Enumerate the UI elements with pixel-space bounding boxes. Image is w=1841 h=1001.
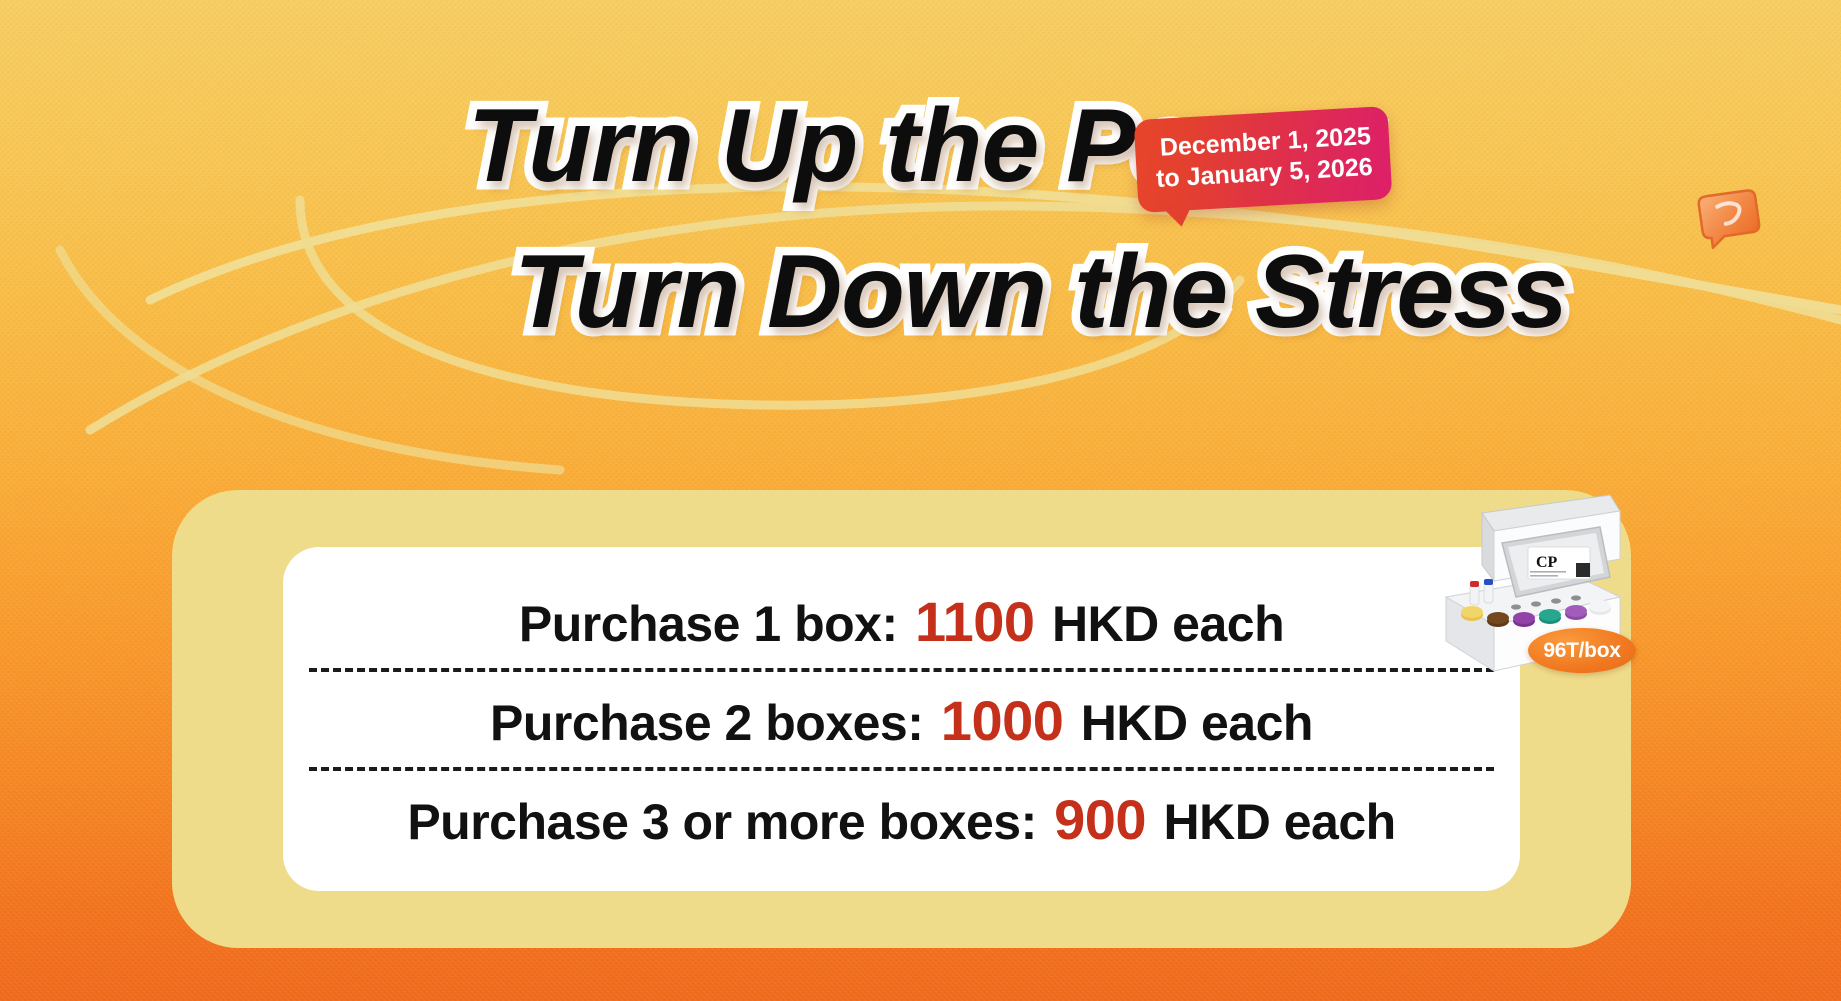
headline-line-1: Turn Up the Power — [0, 94, 1841, 198]
price-row-amount: 1100 — [911, 590, 1039, 653]
price-row-label: Purchase 1 box: — [519, 596, 898, 652]
price-row-label: Purchase 3 or more boxes: — [407, 794, 1036, 850]
price-row-unit: HKD each — [1081, 695, 1313, 751]
price-row-amount: 900 — [1050, 788, 1150, 851]
promo-date-badge: December 1, 2025 to January 5, 2026 — [1134, 106, 1393, 213]
price-row-label: Purchase 2 boxes: — [490, 695, 923, 751]
pouch-label: CP — [1536, 554, 1558, 571]
badge-tail — [1160, 204, 1193, 228]
headline-line-2: Turn Down the Stress — [0, 240, 1841, 344]
price-row: Purchase 3 or more boxes: 900 HKD each — [309, 771, 1494, 866]
pricing-card: Purchase 1 box: 1100 HKD each Purchase 2… — [283, 547, 1520, 891]
price-row: Purchase 2 boxes: 1000 HKD each — [309, 672, 1494, 767]
price-row-unit: HKD each — [1163, 794, 1395, 850]
chat-bubble-icon — [1695, 183, 1767, 253]
promotional-banner: Turn Up the Power Turn Down the Stress D… — [0, 0, 1841, 1001]
price-row-unit: HKD each — [1052, 596, 1284, 652]
price-row: Purchase 1 box: 1100 HKD each — [309, 573, 1494, 668]
price-row-amount: 1000 — [937, 689, 1068, 752]
kit-size-badge: 96T/box — [1528, 628, 1636, 673]
